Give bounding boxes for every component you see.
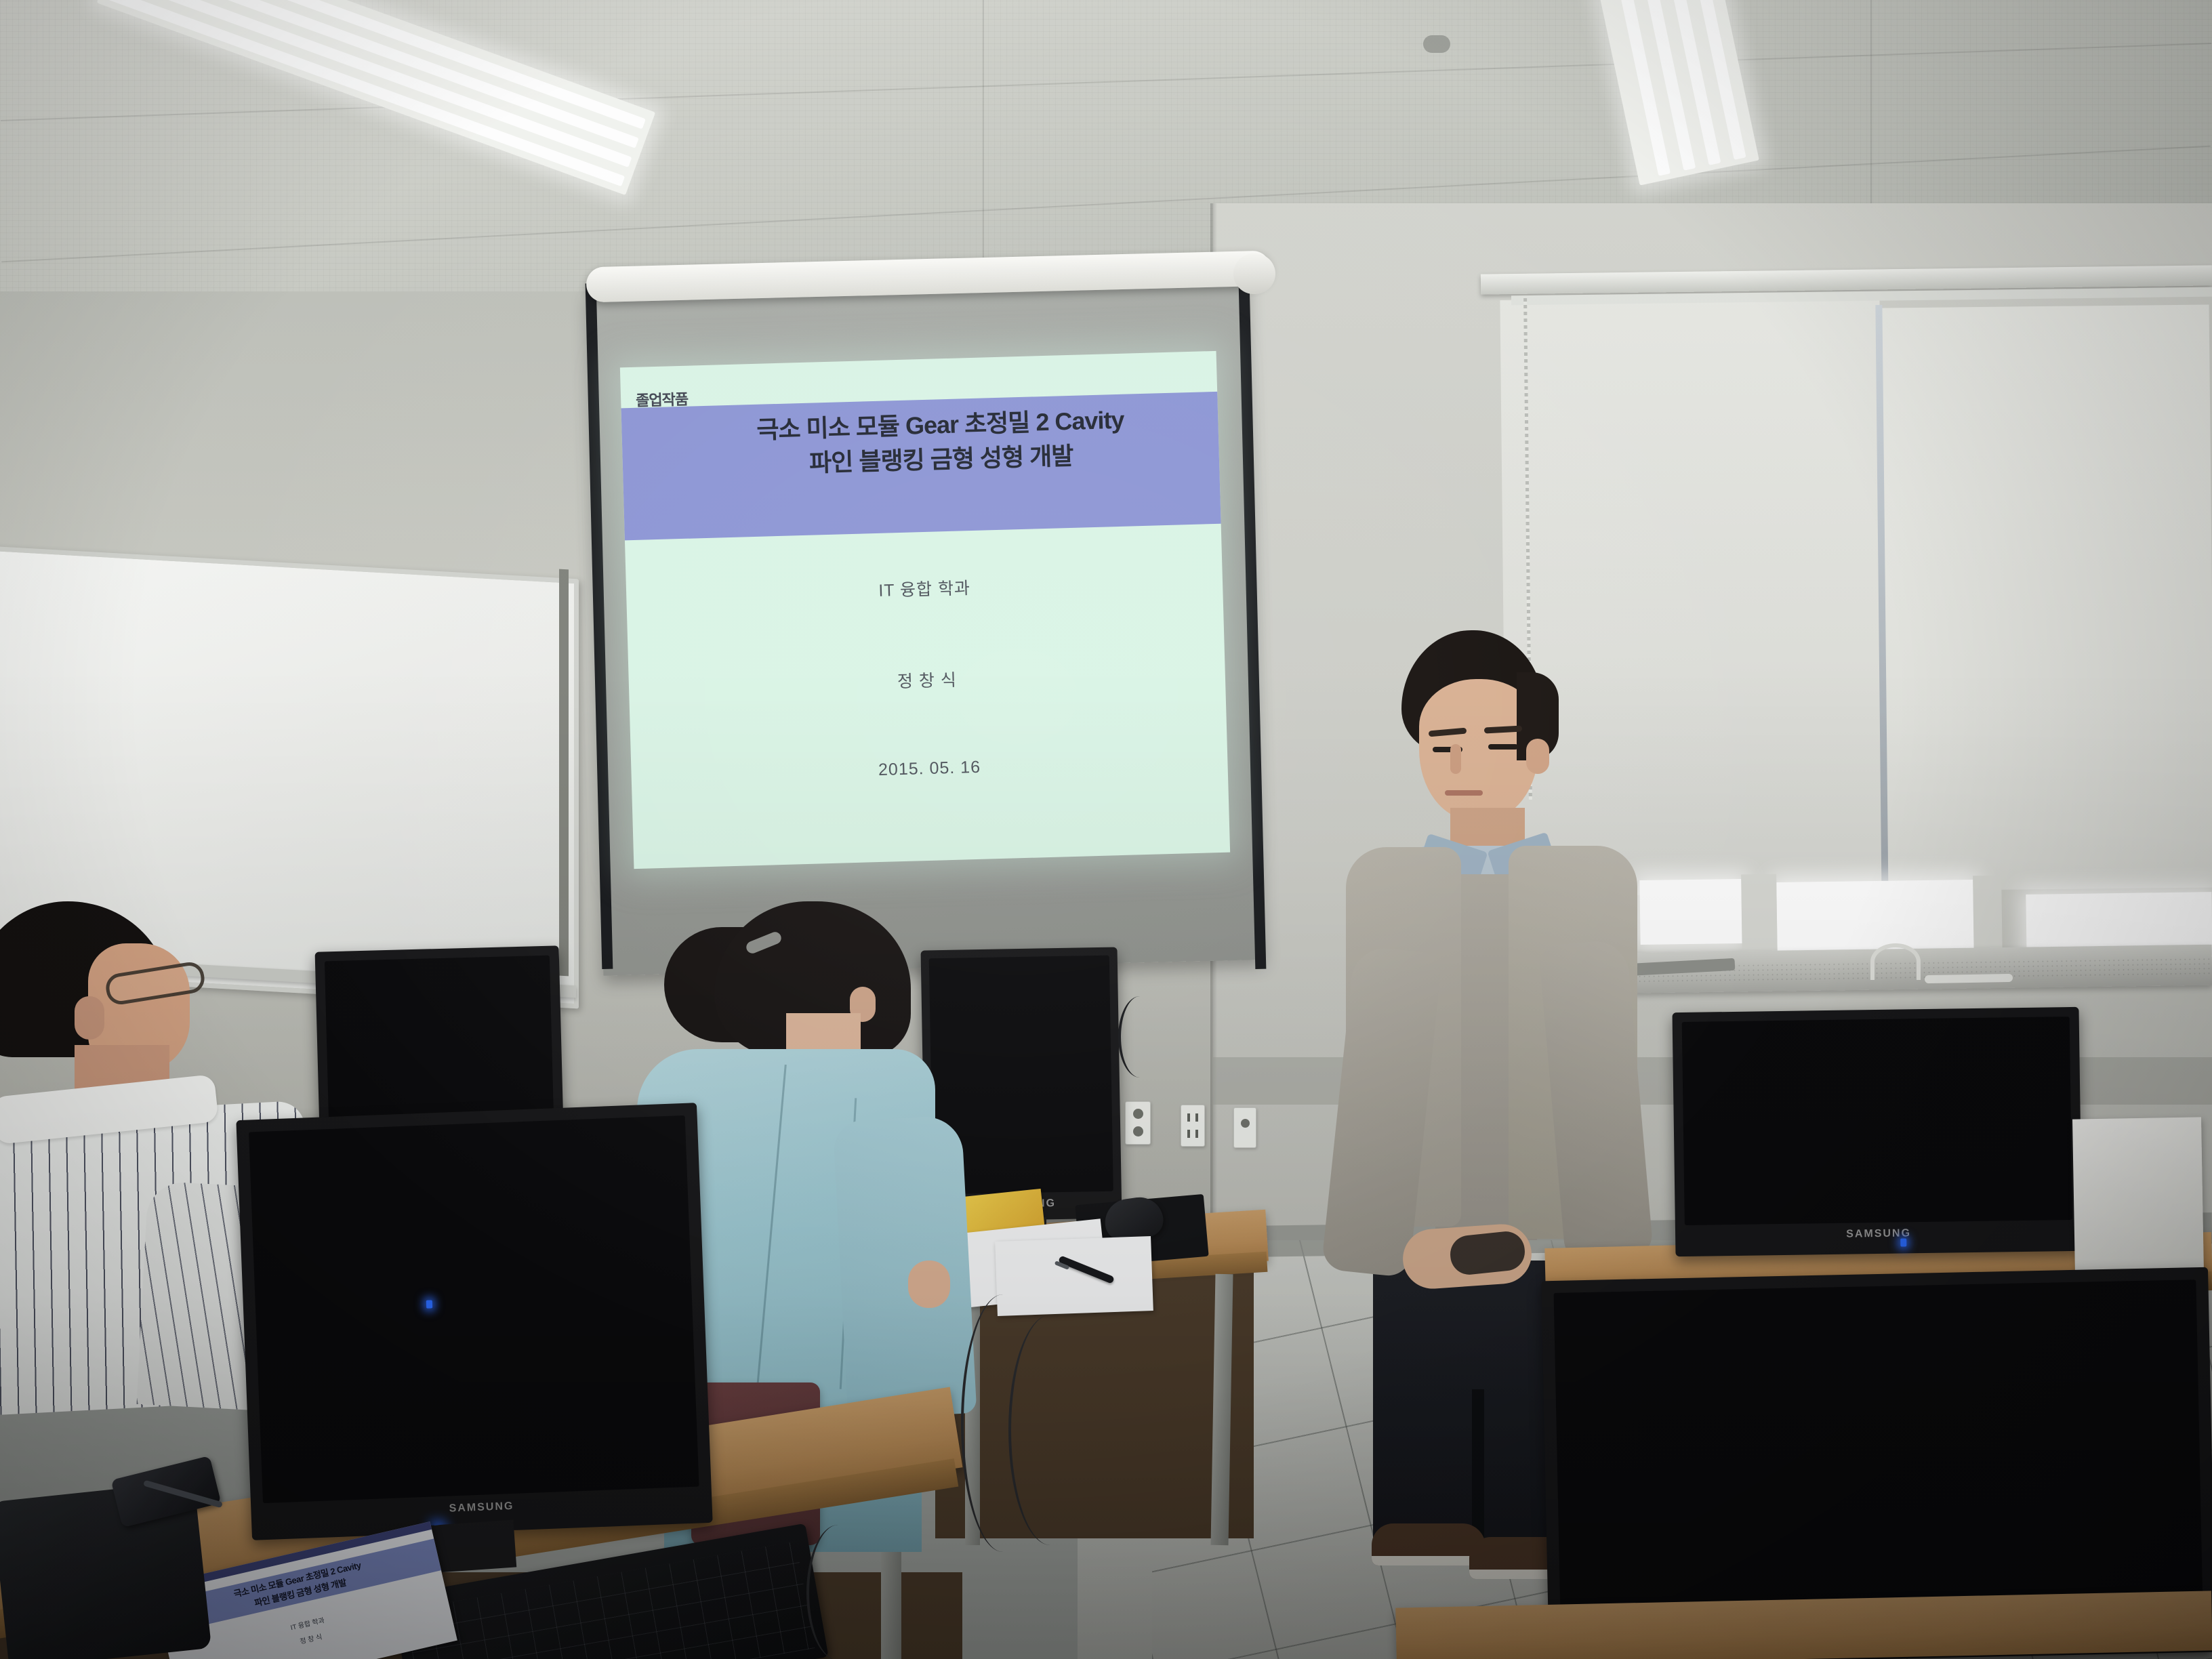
roller-blind-right[interactable]: [1880, 304, 2212, 890]
sill-cable-loop: [1870, 943, 1921, 980]
sill-marker: [1925, 974, 2013, 983]
cable: [806, 1525, 870, 1659]
smoke-detector-icon: [1423, 35, 1450, 53]
presenter-shoe-sole: [1372, 1556, 1486, 1565]
cable: [1118, 996, 1162, 1078]
window-pane: [1639, 879, 1742, 945]
slide-author: 정 창 식: [629, 659, 1226, 701]
dual-round-socket-plate[interactable]: [1125, 1101, 1151, 1145]
slide-department: IT 융합 학과: [626, 568, 1223, 609]
cable: [1008, 1315, 1092, 1545]
classroom-scene: 졸업작품 극소 미소 모듈 Gear 초정밀 2 Cavity 파인 블랭킹 금…: [0, 0, 2212, 1659]
presenter-eye: [1488, 744, 1518, 750]
window-mullion: [1741, 874, 1778, 963]
power-led-icon: [1900, 1238, 1906, 1246]
whiteboard-side-edge: [559, 569, 569, 977]
monitor-right: SAMSUNG: [1673, 1007, 2083, 1256]
presenter-ear: [1526, 739, 1549, 774]
slide-date: 2015. 05. 16: [631, 751, 1227, 787]
seated-man-ear: [75, 996, 104, 1040]
monitor-foreground: SAMSUNG: [236, 1103, 712, 1540]
wall-outlet-plate[interactable]: [1181, 1105, 1205, 1147]
power-led-icon: [426, 1300, 432, 1308]
presenter-mouth: [1445, 790, 1483, 796]
monitor-brand-label: SAMSUNG: [1675, 1225, 2082, 1243]
printer-box: [2072, 1117, 2204, 1275]
network-jack-plate[interactable]: [1233, 1107, 1256, 1148]
slide-kicker-label: 졸업작품: [636, 388, 689, 411]
window-pane: [1776, 880, 1974, 957]
seated-woman-hand: [908, 1261, 950, 1308]
projected-slide: 졸업작품 극소 미소 모듈 Gear 초정밀 2 Cavity 파인 블랭킹 금…: [620, 351, 1230, 869]
presenter-nose: [1450, 744, 1461, 774]
seated-woman-sleeve: [833, 1115, 977, 1419]
desk-leg: [881, 1552, 901, 1659]
